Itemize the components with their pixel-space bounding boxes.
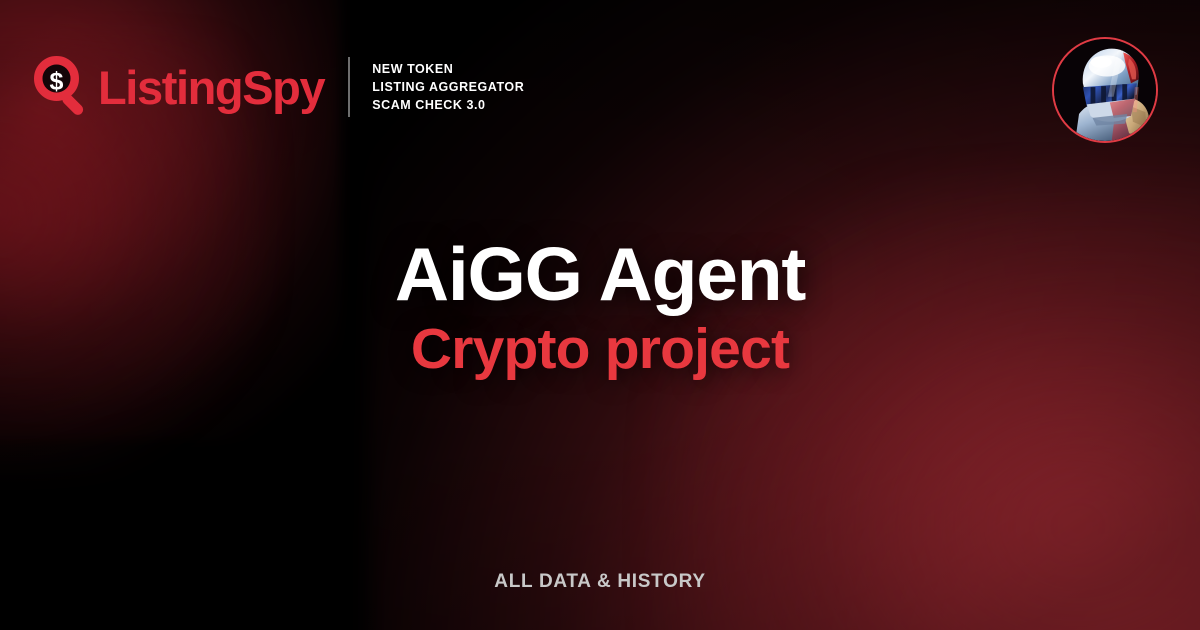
brand-logo[interactable]: $ ListingSpy NEW TOKEN LISTING AGGREGATO… — [34, 56, 524, 118]
tagline-line-3: SCAM CHECK 3.0 — [372, 97, 524, 113]
magnifier-dollar-icon: $ — [34, 56, 92, 118]
svg-text:$: $ — [50, 67, 64, 95]
main-content: AiGG Agent Crypto project — [0, 236, 1200, 380]
footer-tagline: ALL DATA & HISTORY — [494, 571, 705, 593]
page-subtitle: Crypto project — [0, 320, 1200, 380]
avatar[interactable] — [1052, 37, 1158, 143]
page-title: AiGG Agent — [0, 236, 1200, 313]
og-card: $ ListingSpy NEW TOKEN LISTING AGGREGATO… — [0, 0, 1200, 630]
footer: ALL DATA & HISTORY — [0, 571, 1200, 593]
tagline-line-2: LISTING AGGREGATOR — [372, 79, 524, 95]
knight-helmet-avatar — [1054, 39, 1156, 141]
tagline-line-1: NEW TOKEN — [372, 61, 524, 77]
brand-wordmark: ListingSpy — [98, 64, 324, 111]
header: $ ListingSpy NEW TOKEN LISTING AGGREGATO… — [0, 0, 1200, 172]
brand-divider — [348, 57, 350, 117]
brand-tagline: NEW TOKEN LISTING AGGREGATOR SCAM CHECK … — [372, 61, 524, 113]
